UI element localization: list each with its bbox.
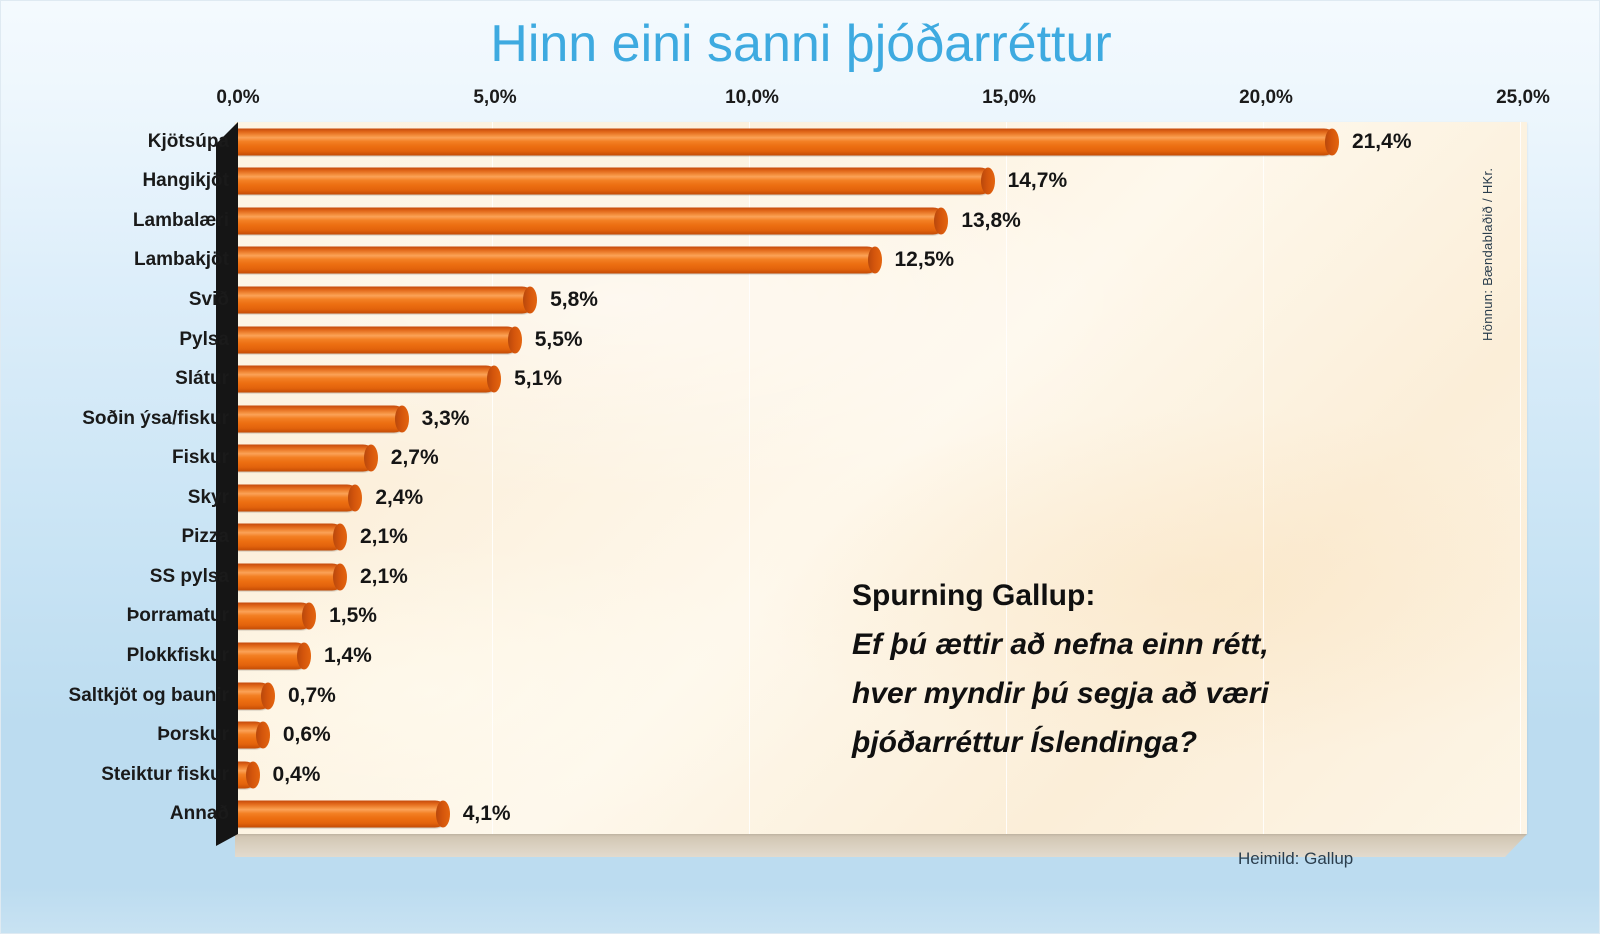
bar-end-cap: [395, 405, 409, 432]
bar: [238, 207, 947, 234]
bar-value-label: 3,3%: [422, 407, 470, 431]
bar-value-label: 13,8%: [961, 209, 1021, 233]
bar-value-label: 2,1%: [360, 525, 408, 549]
bar-end-cap: [981, 168, 995, 195]
bar-row: Lambakjöt12,5%: [1, 241, 1600, 281]
bar-row: Annað4,1%: [1, 794, 1600, 834]
bar-row: Soðin ýsa/fiskur3,3%: [1, 399, 1600, 439]
bar: [238, 761, 259, 788]
bar: [238, 168, 994, 195]
bar-row: Pylsa5,5%: [1, 320, 1600, 360]
bar: [238, 286, 536, 313]
bar-value-label: 5,8%: [550, 288, 598, 312]
bar: [238, 405, 408, 432]
bar-value-label: 21,4%: [1352, 130, 1412, 154]
bar: [238, 484, 361, 511]
category-label: Fiskur: [172, 447, 229, 469]
source-note: Heimild: Gallup: [1238, 849, 1353, 869]
category-label: Steiktur fiskur: [101, 764, 229, 786]
bar-end-cap: [1325, 128, 1339, 155]
bar-end-cap: [868, 247, 882, 274]
bar-end-cap: [246, 761, 260, 788]
bar-value-label: 2,7%: [391, 446, 439, 470]
bar: [238, 247, 881, 274]
category-label: Svið: [189, 289, 229, 311]
bar-end-cap: [256, 722, 270, 749]
bar-value-label: 4,1%: [463, 802, 511, 826]
bar-end-cap: [523, 286, 537, 313]
bar: [238, 366, 500, 393]
bar-end-cap: [302, 603, 316, 630]
bar: [238, 722, 269, 749]
bar: [238, 563, 346, 590]
bar: [238, 326, 521, 353]
bar: [238, 603, 315, 630]
bar-value-label: 2,4%: [375, 486, 423, 510]
bar-value-label: 0,4%: [273, 763, 321, 787]
bar-value-label: 1,5%: [329, 604, 377, 628]
category-label: Slátur: [175, 368, 229, 390]
category-label: SS pylsa: [150, 566, 229, 588]
bar-end-cap: [297, 642, 311, 669]
bar-row: Kjötsúpa21,4%: [1, 122, 1600, 162]
bar-end-cap: [364, 445, 378, 472]
question-line-2: hver myndir þú segja að væri: [852, 669, 1412, 718]
category-label: Lambalæri: [133, 210, 229, 232]
category-label: Saltkjöt og baunir: [69, 685, 229, 707]
bar-value-label: 5,5%: [535, 328, 583, 352]
bar-end-cap: [487, 366, 501, 393]
bar-end-cap: [333, 563, 347, 590]
bar: [238, 445, 377, 472]
bar-value-label: 14,7%: [1008, 169, 1068, 193]
bar-row: Fiskur2,7%: [1, 438, 1600, 478]
question-line-3: þjóðarréttur Íslendinga?: [852, 718, 1412, 767]
bar-value-label: 0,7%: [288, 684, 336, 708]
bar-value-label: 2,1%: [360, 565, 408, 589]
category-label: Kjötsúpa: [148, 131, 229, 153]
credit-note: Hönnun: Bændablaðið / HKr.: [1480, 121, 1495, 341]
category-label: Pylsa: [179, 329, 229, 351]
bar-value-label: 12,5%: [895, 248, 955, 272]
bars-layer: Kjötsúpa21,4%Hangikjöt14,7%Lambalæri13,8…: [1, 1, 1600, 935]
category-label: Annað: [170, 803, 229, 825]
bar-end-cap: [261, 682, 275, 709]
bar: [238, 524, 346, 551]
bar: [238, 801, 449, 828]
bar: [238, 682, 274, 709]
bar-end-cap: [348, 484, 362, 511]
category-label: Pizza: [181, 526, 229, 548]
bar-row: Lambalæri13,8%: [1, 201, 1600, 241]
bar: [238, 642, 310, 669]
chart-poster: Hinn eini sanni þjóðarréttur 0,0%5,0%10,…: [0, 0, 1600, 934]
bar-value-label: 5,1%: [514, 367, 562, 391]
category-label: Plokkfiskur: [127, 645, 229, 667]
category-label: Þorramatur: [127, 605, 229, 627]
bar-row: Svið5,8%: [1, 280, 1600, 320]
bar-row: Pizza2,1%: [1, 518, 1600, 558]
question-heading: Spurning Gallup:: [852, 571, 1412, 620]
category-label: Lambakjöt: [134, 249, 229, 271]
bar-end-cap: [934, 207, 948, 234]
bar-row: Hangikjöt14,7%: [1, 162, 1600, 202]
bar-end-cap: [436, 801, 450, 828]
category-label: Þorskur: [157, 724, 229, 746]
bar-row: Slátur5,1%: [1, 359, 1600, 399]
category-label: Soðin ýsa/fiskur: [82, 408, 229, 430]
category-label: Hangikjöt: [142, 170, 229, 192]
bar-value-label: 0,6%: [283, 723, 331, 747]
question-block: Spurning Gallup: Ef þú ættir að nefna ei…: [852, 571, 1412, 767]
bar: [238, 128, 1338, 155]
category-label: Skyr: [188, 487, 229, 509]
bar-end-cap: [508, 326, 522, 353]
bar-end-cap: [333, 524, 347, 551]
question-line-1: Ef þú ættir að nefna einn rétt,: [852, 620, 1412, 669]
bar-row: Skyr2,4%: [1, 478, 1600, 518]
bar-value-label: 1,4%: [324, 644, 372, 668]
